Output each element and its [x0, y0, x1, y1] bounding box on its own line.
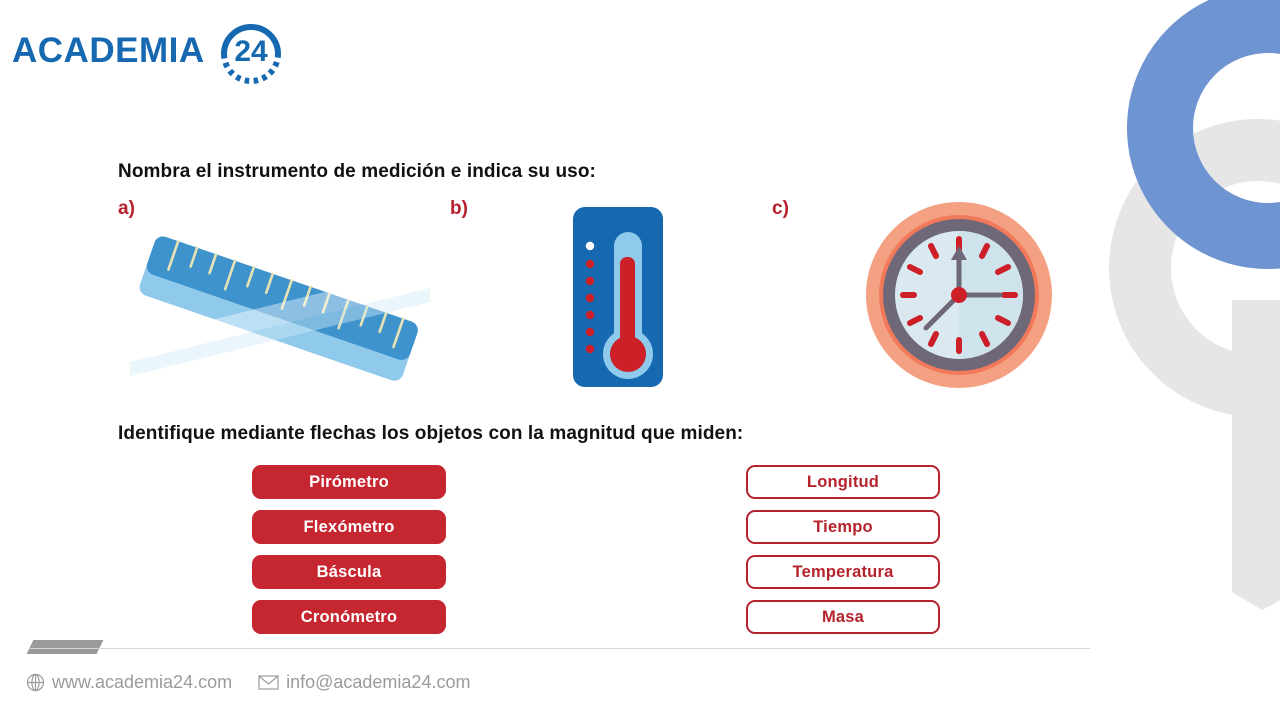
question-2-heading: Identifique mediante flechas los objetos… — [118, 423, 743, 445]
thermometer-icon — [568, 202, 668, 392]
footer-email-text: info@academia24.com — [286, 672, 470, 693]
footer-website[interactable]: www.academia24.com — [26, 672, 232, 693]
magnitude-pill-2[interactable]: Tiempo — [746, 510, 940, 544]
footer-email[interactable]: info@academia24.com — [258, 672, 470, 693]
clock-center-pin — [951, 287, 967, 303]
blue-ring-shape — [1160, 20, 1280, 236]
footer: www.academia24.com info@academia24.com — [26, 672, 470, 693]
instrument-pill-2[interactable]: Flexómetro — [252, 510, 446, 544]
magnitudes-column: Longitud Tiempo Temperatura Masa — [746, 465, 940, 634]
magnitude-pill-4[interactable]: Masa — [746, 600, 940, 634]
question-1-item-c-label: c) — [772, 198, 789, 220]
thermometer-dot-white — [586, 242, 594, 250]
globe-icon — [26, 673, 45, 692]
question-1-item-b-label: b) — [450, 198, 468, 220]
instrument-pill-4[interactable]: Cronómetro — [252, 600, 446, 634]
brand-logo: ACADEMIA 24 — [12, 14, 287, 86]
gray-ring-shape — [1140, 150, 1280, 610]
instrument-pill-3[interactable]: Báscula — [252, 555, 446, 589]
envelope-icon — [258, 674, 279, 691]
brand-name: ACADEMIA — [12, 33, 205, 68]
footer-divider-accent — [27, 640, 104, 654]
ruler-icon — [130, 220, 430, 395]
magnitude-pill-3[interactable]: Temperatura — [746, 555, 940, 589]
slide-canvas: ACADEMIA 24 Nombra el instrumento de med… — [0, 0, 1280, 720]
footer-divider — [30, 648, 1090, 649]
footer-website-text: www.academia24.com — [52, 672, 232, 693]
brand-badge-icon: 24 — [215, 14, 287, 86]
magnitude-pill-1[interactable]: Longitud — [746, 465, 940, 499]
clock-icon — [862, 198, 1057, 393]
instruments-column: Pirómetro Flexómetro Báscula Cronómetro — [252, 465, 446, 634]
question-1-heading: Nombra el instrumento de medición e indi… — [118, 161, 596, 183]
brand-badge-number: 24 — [234, 35, 268, 68]
question-1-item-a-label: a) — [118, 198, 135, 220]
instrument-pill-1[interactable]: Pirómetro — [252, 465, 446, 499]
